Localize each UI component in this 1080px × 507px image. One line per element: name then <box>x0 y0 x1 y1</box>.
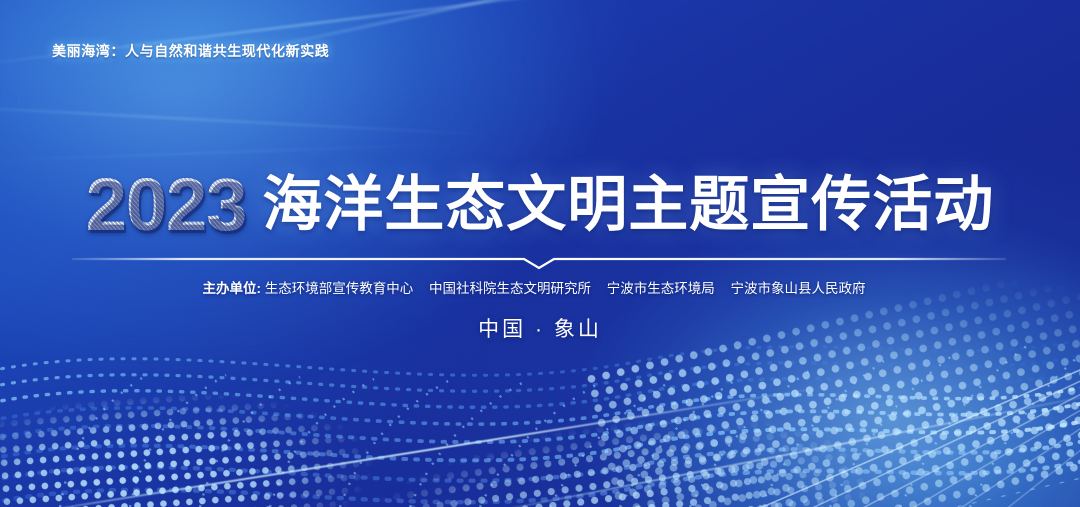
organizer-name: 宁波市生态环境局 <box>607 281 715 296</box>
organizers-label: 主办单位: <box>202 281 261 296</box>
banner-year: 2023 <box>86 168 247 242</box>
title-divider <box>72 256 1006 270</box>
banner-eyebrow-slogan: 美丽海湾：人与自然和谐共生现代化新实践 <box>52 41 329 61</box>
organizers-line: 主办单位: 生态环境部宣传教育中心 中国社科院生态文明研究所 宁波市生态环境局 … <box>0 277 1080 297</box>
event-banner: 美丽海湾：人与自然和谐共生现代化新实践 2023 海洋生态文明主题宣传活动 <box>0 0 1080 507</box>
organizer-name: 生态环境部宣传教育中心 <box>265 281 414 296</box>
banner-title-row: 2023 海洋生态文明主题宣传活动 <box>0 168 1080 242</box>
organizer-name: 中国社科院生态文明研究所 <box>429 281 591 296</box>
organizer-name: 宁波市象山县人民政府 <box>731 281 866 296</box>
event-location: 中国 · 象山 <box>0 313 1080 343</box>
page-title: 海洋生态文明主题宣传活动 <box>262 175 994 235</box>
